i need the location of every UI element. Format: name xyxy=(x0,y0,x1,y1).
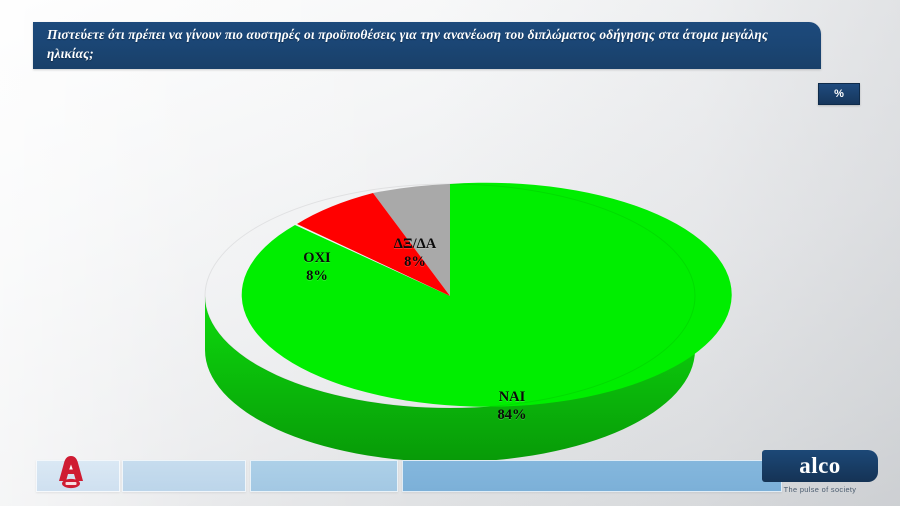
footer-segment-3 xyxy=(250,460,398,492)
question-header-bar: Πιστεύετε ότι πρέπει να γίνουν πιο αυστη… xyxy=(33,22,821,69)
footer-segment-4 xyxy=(402,460,782,492)
page-title: Πιστεύετε ότι πρέπει να γίνουν πιο αυστη… xyxy=(47,26,807,63)
alpha-tv-a-logo xyxy=(56,454,86,490)
pie-label-nai-value: 84% xyxy=(470,407,554,425)
alco-logo-box: alco xyxy=(762,450,878,482)
pie-label-oxi: ΟΧΙ 8% xyxy=(282,250,352,285)
alco-brand-logo: alco The pulse of society xyxy=(762,450,878,498)
alco-brand-tagline: The pulse of society xyxy=(762,485,878,494)
pie-label-dxda-value: 8% xyxy=(372,254,458,272)
alpha-a-icon xyxy=(56,454,86,490)
footer-segment-2 xyxy=(122,460,246,492)
percent-symbol: % xyxy=(834,88,844,100)
pie-label-oxi-value: 8% xyxy=(282,268,352,286)
chart-area: ΟΧΙ 8% ΔΞ/ΔΑ 8% ΝΑΙ 84% xyxy=(0,100,900,420)
pie-label-nai-name: ΝΑΙ xyxy=(470,389,554,407)
alco-brand-name: alco xyxy=(799,454,841,477)
pie-label-oxi-name: ΟΧΙ xyxy=(282,250,352,268)
pie-label-nai: ΝΑΙ 84% xyxy=(470,389,554,424)
pie-label-dxda: ΔΞ/ΔΑ 8% xyxy=(372,236,458,271)
pie-label-dxda-name: ΔΞ/ΔΑ xyxy=(372,236,458,254)
